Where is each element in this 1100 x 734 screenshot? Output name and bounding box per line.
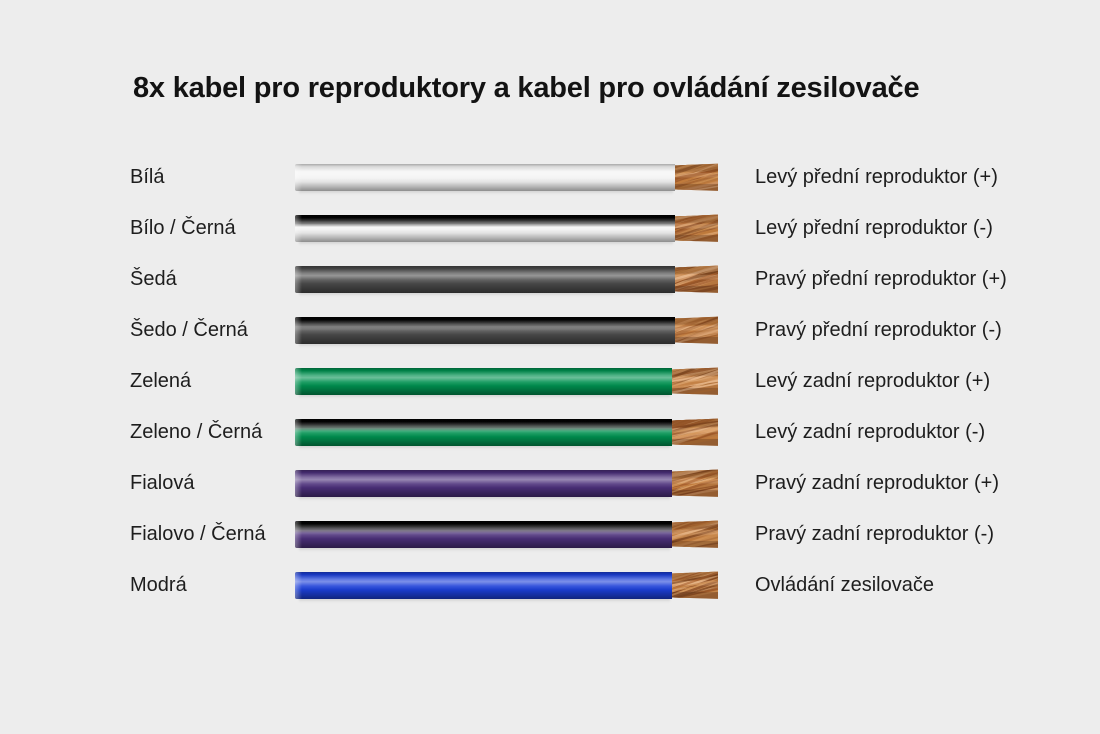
wire-color-label: Šedá (130, 254, 177, 305)
wire-list: BíláLevý přední reproduktor (+)Bílo / Če… (0, 152, 1100, 611)
wire-row: Fialovo / ČernáPravý zadní reproduktor (… (0, 509, 1100, 560)
wire-row: Šedo / ČernáPravý přední reproduktor (-) (0, 305, 1100, 356)
wire-function-label: Pravý přední reproduktor (+) (755, 254, 1007, 305)
wire-graphic (295, 571, 718, 600)
wire-gloss-shading (295, 215, 675, 242)
wire-graphic (295, 367, 718, 396)
wire-graphic (295, 163, 718, 192)
wire-row: ZelenáLevý zadní reproduktor (+) (0, 356, 1100, 407)
wire-graphic (295, 265, 718, 294)
wire-graphic (295, 316, 718, 345)
wire-insulation (295, 470, 672, 497)
wire-row: Bílo / ČernáLevý přední reproduktor (-) (0, 203, 1100, 254)
wire-insulation (295, 368, 672, 395)
wire-insulation (295, 419, 672, 446)
wire-graphic (295, 418, 718, 447)
wire-function-label: Levý přední reproduktor (+) (755, 152, 998, 203)
speaker-wire-color-diagram: 8x kabel pro reproduktory a kabel pro ov… (0, 0, 1100, 734)
wire-gloss-shading (295, 470, 672, 497)
wire-insulation (295, 572, 672, 599)
wire-function-label: Levý přední reproduktor (-) (755, 203, 993, 254)
wire-row: BíláLevý přední reproduktor (+) (0, 152, 1100, 203)
wire-insulation (295, 521, 672, 548)
wire-insulation (295, 266, 675, 293)
wire-gloss-shading (295, 419, 672, 446)
wire-function-label: Levý zadní reproduktor (+) (755, 356, 990, 407)
wire-color-label: Modrá (130, 560, 187, 611)
wire-gloss-shading (295, 368, 672, 395)
page-title: 8x kabel pro reproduktory a kabel pro ov… (133, 72, 1033, 105)
wire-graphic (295, 520, 718, 549)
wire-row: FialováPravý zadní reproduktor (+) (0, 458, 1100, 509)
wire-function-label: Pravý zadní reproduktor (+) (755, 458, 999, 509)
wire-color-label: Zeleno / Černá (130, 407, 262, 458)
wire-color-label: Bílo / Černá (130, 203, 236, 254)
wire-graphic (295, 469, 718, 498)
wire-color-label: Bílá (130, 152, 164, 203)
wire-color-label: Fialová (130, 458, 194, 509)
wire-insulation (295, 317, 675, 344)
wire-insulation (295, 164, 675, 191)
wire-row: ModráOvládání zesilovače (0, 560, 1100, 611)
wire-color-label: Šedo / Černá (130, 305, 248, 356)
wire-color-label: Zelená (130, 356, 191, 407)
wire-function-label: Levý zadní reproduktor (-) (755, 407, 985, 458)
wire-gloss-shading (295, 572, 672, 599)
wire-color-label: Fialovo / Černá (130, 509, 266, 560)
wire-insulation (295, 215, 675, 242)
wire-row: ŠedáPravý přední reproduktor (+) (0, 254, 1100, 305)
wire-row: Zeleno / ČernáLevý zadní reproduktor (-) (0, 407, 1100, 458)
wire-gloss-shading (295, 164, 675, 191)
wire-gloss-shading (295, 317, 675, 344)
wire-graphic (295, 214, 718, 243)
wire-function-label: Pravý zadní reproduktor (-) (755, 509, 994, 560)
wire-gloss-shading (295, 266, 675, 293)
wire-function-label: Pravý přední reproduktor (-) (755, 305, 1002, 356)
wire-gloss-shading (295, 521, 672, 548)
wire-function-label: Ovládání zesilovače (755, 560, 934, 611)
